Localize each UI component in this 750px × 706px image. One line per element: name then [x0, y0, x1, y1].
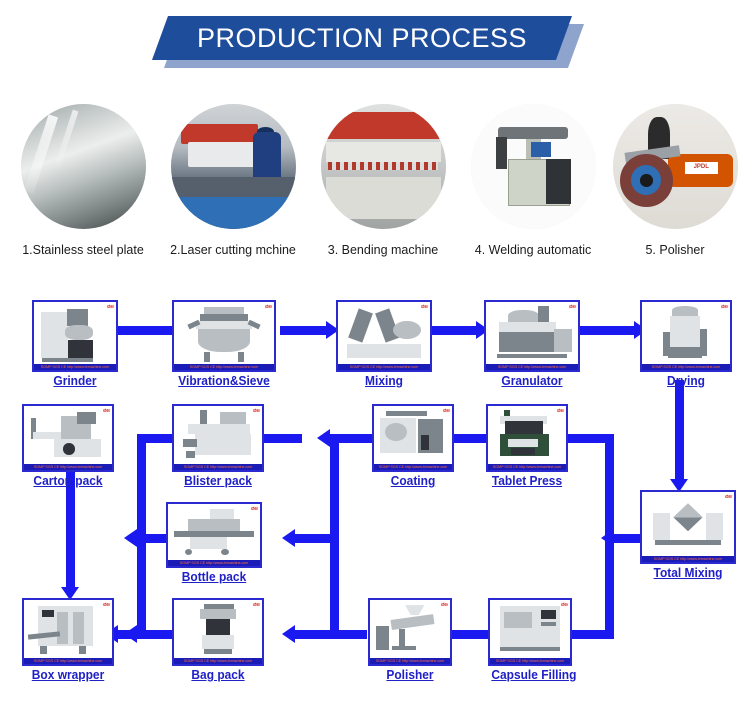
- watermark-icon: ØIIr: [103, 408, 110, 413]
- fabrication-step-1-label: 1.Stainless steel plate: [8, 243, 158, 257]
- fabrication-step-2: 2.Laser cutting mchine: [158, 104, 308, 257]
- watermark-icon: ØIIr: [265, 304, 272, 309]
- fabrication-step-5-label: 5. Polisher: [600, 243, 750, 257]
- watermark-icon: ØIIr: [253, 602, 260, 607]
- connector-bus-to-capsule-filling: [566, 630, 614, 639]
- watermark-icon: ØIIr: [421, 304, 428, 309]
- flow-node-grinder[interactable]: ØIIr SGMP SGS CE http://www.brmachine.co…: [32, 300, 118, 388]
- watermark-icon: ØIIr: [103, 602, 110, 607]
- flow-node-carton-pack-label: Carton pack: [26, 473, 111, 488]
- flow-node-drying-label: Drying: [644, 373, 729, 388]
- carton-pack-image: ØIIr SGMP SGS CE http://www.brmachine.co…: [22, 404, 114, 472]
- arrowhead-left: [317, 429, 330, 447]
- connector-mixing-to-granulator: [432, 326, 480, 335]
- flow-node-tablet-press-label: Tablet Press: [489, 473, 564, 488]
- connector-granulator-to-drying: [580, 326, 638, 335]
- tablet-press-image: ØIIr SGMP SGS CE http://www.brmachine.co…: [486, 404, 568, 472]
- welding-automatic-photo: [471, 104, 596, 229]
- image-caption-strip: SGMP SGS CE http://www.brmachine.com: [370, 658, 450, 664]
- fabrication-steps-row: 1.Stainless steel plate 2.Laser cutting …: [0, 104, 750, 279]
- flow-node-polisher[interactable]: ØIIr SGMP SGS CE http://www.brmachine.co…: [368, 598, 452, 682]
- image-caption-strip: SGMP SGS CE http://www.brmachine.com: [174, 658, 262, 664]
- arrowhead-left: [282, 529, 295, 547]
- coating-image: ØIIr SGMP SGS CE http://www.brmachine.co…: [372, 404, 454, 472]
- image-caption-strip: SGMP SGS CE http://www.brmachine.com: [490, 658, 570, 664]
- flow-node-total-mixing[interactable]: ØIIr SGMP SGS CE http://www.brmachine.co…: [640, 490, 736, 580]
- image-caption-strip: SGMP SGS CE http://www.brmachine.com: [642, 364, 730, 370]
- watermark-icon: ØIIr: [251, 506, 258, 511]
- watermark-icon: ØIIr: [725, 494, 732, 499]
- polisher-image-flow: ØIIr SGMP SGS CE http://www.brmachine.co…: [368, 598, 452, 666]
- fabrication-step-3-label: 3. Bending machine: [308, 243, 458, 257]
- watermark-icon: ØIIr: [721, 304, 728, 309]
- mixing-image: ØIIr SGMP SGS CE http://www.brmachine.co…: [336, 300, 432, 372]
- production-flowchart: ØIIr SGMP SGS CE http://www.brmachine.co…: [0, 286, 750, 706]
- flow-node-capsule-filling-label: Capsule Filling: [491, 667, 568, 682]
- bottle-pack-image: ØIIr SGMP SGS CE http://www.brmachine.co…: [166, 502, 262, 568]
- connector-bus-to-bag-pack: [295, 630, 339, 639]
- image-caption-strip: SGMP SGS CE http://www.brmachine.com: [486, 364, 578, 370]
- watermark-icon: ØIIr: [443, 408, 450, 413]
- fabrication-step-4-label: 4. Welding automatic: [458, 243, 608, 257]
- fabrication-step-2-label: 2.Laser cutting mchine: [158, 243, 308, 257]
- flow-node-blister-pack-label: Blister pack: [176, 473, 261, 488]
- production-process-page: PRODUCTION PROCESS 1.Stainless steel pla…: [0, 0, 750, 706]
- watermark-icon: ØIIr: [557, 408, 564, 413]
- watermark-icon: ØIIr: [561, 602, 568, 607]
- granulator-image: ØIIr SGMP SGS CE http://www.brmachine.co…: [484, 300, 580, 372]
- image-caption-strip: SGMP SGS CE http://www.brmachine.com: [338, 364, 430, 370]
- flow-node-vibration-sieve[interactable]: ØIIr SGMP SGS CE http://www.brmachine.co…: [172, 300, 276, 388]
- image-caption-strip: SGMP SGS CE http://www.brmachine.com: [174, 464, 262, 470]
- watermark-icon: ØIIr: [253, 408, 260, 413]
- fabrication-step-5: JPDL 5. Polisher: [600, 104, 750, 257]
- grinder-image: ØIIr SGMP SGS CE http://www.brmachine.co…: [32, 300, 118, 372]
- flow-node-coating[interactable]: ØIIr SGMP SGS CE http://www.brmachine.co…: [372, 404, 454, 488]
- flow-node-granulator[interactable]: ØIIr SGMP SGS CE http://www.brmachine.co…: [484, 300, 580, 388]
- capsule-filling-image: ØIIr SGMP SGS CE http://www.brmachine.co…: [488, 598, 572, 666]
- polisher-photo: JPDL: [613, 104, 738, 229]
- image-caption-strip: SGMP SGS CE http://www.brmachine.com: [174, 364, 274, 370]
- connector-blister-to-carton: [262, 434, 302, 443]
- arrowhead-left: [124, 529, 137, 547]
- watermark-icon: ØIIr: [569, 304, 576, 309]
- bending-machine-photo: [321, 104, 446, 229]
- fabrication-step-1: 1.Stainless steel plate: [8, 104, 158, 257]
- fabrication-step-4: 4. Welding automatic: [458, 104, 608, 257]
- flow-node-carton-pack[interactable]: ØIIr SGMP SGS CE http://www.brmachine.co…: [22, 404, 114, 488]
- image-caption-strip: SGMP SGS CE http://www.brmachine.com: [488, 464, 566, 470]
- connector-bus-to-bottle-pack: [295, 534, 339, 543]
- flow-node-box-wrapper[interactable]: ØIIr SGMP SGS CE http://www.brmachine.co…: [22, 598, 114, 682]
- connector-bag-to-box-wrapper: [118, 630, 170, 639]
- image-caption-strip: SGMP SGS CE http://www.brmachine.com: [168, 560, 260, 566]
- image-caption-strip: SGMP SGS CE http://www.brmachine.com: [642, 556, 734, 562]
- flow-node-coating-label: Coating: [375, 473, 450, 488]
- total-mixing-image: ØIIr SGMP SGS CE http://www.brmachine.co…: [640, 490, 736, 564]
- watermark-icon: ØIIr: [441, 602, 448, 607]
- flow-node-total-mixing-label: Total Mixing: [644, 565, 732, 580]
- blister-pack-image: ØIIr SGMP SGS CE http://www.brmachine.co…: [172, 404, 264, 472]
- flow-node-capsule-filling[interactable]: ØIIr SGMP SGS CE http://www.brmachine.co…: [488, 598, 572, 682]
- image-caption-strip: SGMP SGS CE http://www.brmachine.com: [24, 658, 112, 664]
- flow-node-bag-pack[interactable]: ØIIr SGMP SGS CE http://www.brmachine.co…: [172, 598, 264, 682]
- box-wrapper-image: ØIIr SGMP SGS CE http://www.brmachine.co…: [22, 598, 114, 666]
- flow-node-drying[interactable]: ØIIr SGMP SGS CE http://www.brmachine.co…: [640, 300, 732, 388]
- connector-polisher-to-bus: [339, 630, 367, 639]
- flow-node-tablet-press[interactable]: ØIIr SGMP SGS CE http://www.brmachine.co…: [486, 404, 568, 488]
- flow-node-bottle-pack-label: Bottle pack: [170, 569, 258, 584]
- flow-node-box-wrapper-label: Box wrapper: [26, 667, 111, 682]
- page-title: PRODUCTION PROCESS: [160, 16, 564, 60]
- laser-cutting-machine-photo: [171, 104, 296, 229]
- connector-bus-to-tablet-press: [566, 434, 614, 443]
- arrowhead-left: [282, 625, 295, 643]
- flow-node-blister-pack[interactable]: ØIIr SGMP SGS CE http://www.brmachine.co…: [172, 404, 264, 488]
- stainless-steel-plate-photo: [21, 104, 146, 229]
- drying-image: ØIIr SGMP SGS CE http://www.brmachine.co…: [640, 300, 732, 372]
- page-title-banner: PRODUCTION PROCESS: [160, 16, 580, 68]
- watermark-icon: ØIIr: [107, 304, 114, 309]
- bag-pack-image: ØIIr SGMP SGS CE http://www.brmachine.co…: [172, 598, 264, 666]
- flow-node-grinder-label: Grinder: [35, 373, 114, 388]
- flow-node-vibration-sieve-label: Vibration&Sieve: [176, 373, 272, 388]
- connector-drying-to-total-mixing: [675, 380, 684, 483]
- flow-node-polisher-label: Polisher: [371, 667, 448, 682]
- connector-vibration-to-mixing: [280, 326, 330, 335]
- image-caption-strip: SGMP SGS CE http://www.brmachine.com: [374, 464, 452, 470]
- image-caption-strip: SGMP SGS CE http://www.brmachine.com: [34, 364, 116, 370]
- vertical-bus-right: [605, 434, 614, 639]
- vibration-sieve-image: ØIIr SGMP SGS CE http://www.brmachine.co…: [172, 300, 276, 372]
- image-caption-strip: SGMP SGS CE http://www.brmachine.com: [24, 464, 112, 470]
- flow-node-granulator-label: Granulator: [488, 373, 576, 388]
- fabrication-step-3: 3. Bending machine: [308, 104, 458, 257]
- flow-node-mixing[interactable]: ØIIr SGMP SGS CE http://www.brmachine.co…: [336, 300, 432, 388]
- flow-node-bottle-pack[interactable]: ØIIr SGMP SGS CE http://www.brmachine.co…: [166, 502, 262, 584]
- flow-node-mixing-label: Mixing: [340, 373, 428, 388]
- flow-node-bag-pack-label: Bag pack: [176, 667, 261, 682]
